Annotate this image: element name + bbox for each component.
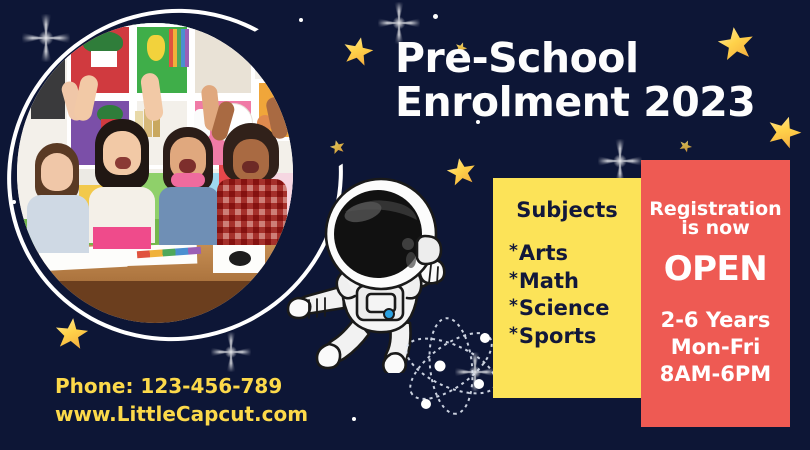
- list-item: *Science: [509, 295, 641, 323]
- bullet-icon: *: [509, 296, 518, 316]
- status-badge: OPEN: [641, 249, 790, 289]
- list-item: *Sports: [509, 323, 641, 351]
- subjects-list: *Arts *Math *Science *Sports: [509, 240, 641, 351]
- star-icon: [329, 138, 347, 155]
- headline-line-2: Enrolment 2023: [395, 80, 795, 124]
- subject-label: Science: [519, 296, 610, 320]
- subject-label: Sports: [519, 324, 596, 348]
- website-url: www.LittleCapcut.com: [55, 400, 355, 428]
- list-item: *Arts: [509, 240, 641, 268]
- sparkle-icon: [211, 332, 251, 372]
- subject-label: Math: [519, 269, 579, 293]
- open-hours: 8AM-6PM: [641, 362, 790, 386]
- bullet-icon: *: [509, 269, 518, 289]
- bullet-icon: *: [509, 324, 518, 344]
- contact-info: Phone: 123-456-789 www.LittleCapcut.com: [55, 372, 355, 428]
- registration-card: Registration is now OPEN 2-6 Years Mon-F…: [641, 160, 790, 427]
- children-photo: [17, 23, 293, 323]
- age-range: 2-6 Years: [641, 308, 790, 332]
- poster-canvas: Pre-School Enrolment 2023 Subjects *Arts…: [0, 0, 810, 450]
- subject-label: Arts: [519, 241, 568, 265]
- subjects-title: Subjects: [493, 198, 641, 222]
- star-icon: [340, 34, 375, 69]
- star-icon: [677, 138, 694, 154]
- registration-headline: Registration is now: [641, 200, 790, 239]
- subjects-card: Subjects *Arts *Math *Science *Sports: [493, 178, 641, 398]
- open-days: Mon-Fri: [641, 335, 790, 359]
- star-dot: [12, 200, 16, 204]
- list-item: *Math: [509, 268, 641, 296]
- phone-number: Phone: 123-456-789: [55, 372, 355, 400]
- registration-line-2: is now: [641, 219, 790, 238]
- bullet-icon: *: [509, 241, 518, 261]
- star-dot: [299, 18, 303, 22]
- page-title: Pre-School Enrolment 2023: [395, 36, 795, 125]
- star-dot: [433, 14, 438, 19]
- sparkle-icon: [598, 139, 642, 183]
- headline-line-1: Pre-School: [395, 36, 795, 80]
